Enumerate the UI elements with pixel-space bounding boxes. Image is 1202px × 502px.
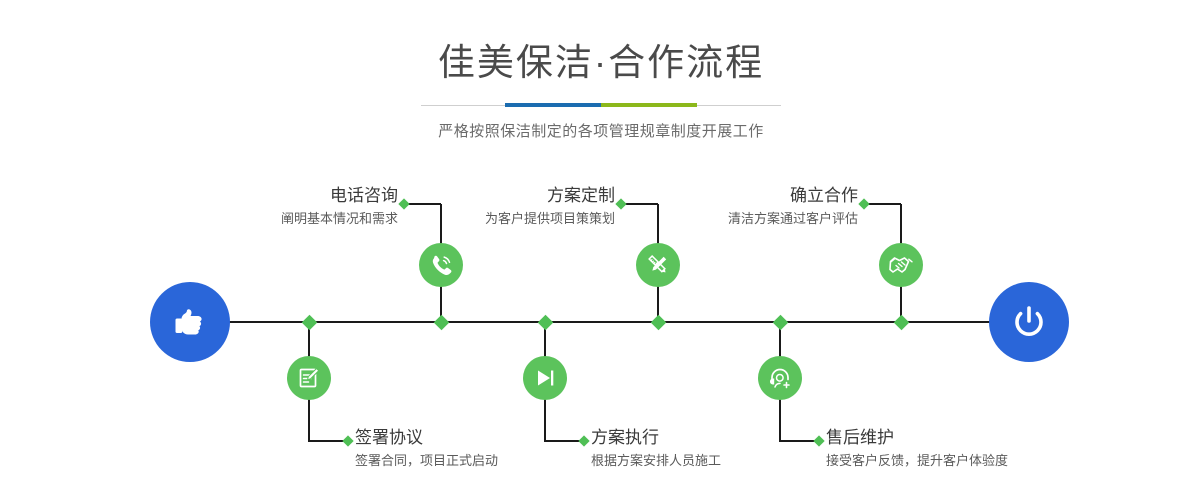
page-subtitle: 严格按照保洁制定的各项管理规章制度开展工作 [0, 120, 1202, 141]
axis-marker-step-1 [433, 314, 449, 330]
divider-segment-green [601, 103, 697, 107]
divider-segment-blue [505, 103, 601, 107]
connector-tip-step-5 [858, 198, 869, 209]
step-desc-step-6: 接受客户反馈，提升客户体验度 [826, 452, 1126, 470]
step-desc-step-5: 清洁方案通过客户评估 [600, 210, 858, 228]
step-icon-step-1[interactable] [419, 243, 463, 287]
header: 佳美保洁·合作流程 严格按照保洁制定的各项管理规章制度开展工作 [0, 0, 1202, 141]
flowchart-canvas: 佳美保洁·合作流程 严格按照保洁制定的各项管理规章制度开展工作 [0, 0, 1202, 502]
play-execute-icon [532, 365, 558, 391]
document-edit-icon [296, 365, 322, 391]
title-divider [421, 103, 781, 107]
axis-marker-step-4 [537, 314, 553, 330]
step-label-step-3: 方案定制 为客户提供项目策策划 [357, 186, 615, 228]
axis-marker-step-2 [301, 314, 317, 330]
connector-elbow-step-2 [308, 440, 345, 442]
phone-call-icon [428, 252, 454, 278]
step-icon-step-6[interactable] [758, 356, 802, 400]
pencil-ruler-icon [645, 252, 671, 278]
step-title-step-6: 售后维护 [826, 428, 1126, 448]
step-label-step-6: 售后维护 接受客户反馈，提升客户体验度 [826, 428, 1126, 470]
timeline-start-node[interactable] [150, 282, 230, 362]
step-icon-step-2[interactable] [287, 356, 331, 400]
axis-marker-step-3 [650, 314, 666, 330]
step-icon-step-5[interactable] [879, 243, 923, 287]
page-title: 佳美保洁·合作流程 [0, 44, 1202, 81]
step-desc-step-3: 为客户提供项目策策划 [357, 210, 615, 228]
step-title-step-3: 方案定制 [357, 186, 615, 206]
power-icon [1007, 300, 1051, 344]
axis-marker-step-5 [893, 314, 909, 330]
pointing-hand-icon [168, 300, 212, 344]
step-icon-step-4[interactable] [523, 356, 567, 400]
handshake-icon [888, 252, 915, 279]
axis-marker-step-6 [772, 314, 788, 330]
step-title-step-5: 确立合作 [600, 186, 858, 206]
connector-tip-step-2 [342, 435, 353, 446]
timeline-end-node[interactable] [989, 282, 1069, 362]
timeline-axis [228, 321, 1000, 323]
step-icon-step-3[interactable] [636, 243, 680, 287]
headset-support-icon [767, 365, 793, 391]
step-label-step-5: 确立合作 清洁方案通过客户评估 [600, 186, 858, 228]
